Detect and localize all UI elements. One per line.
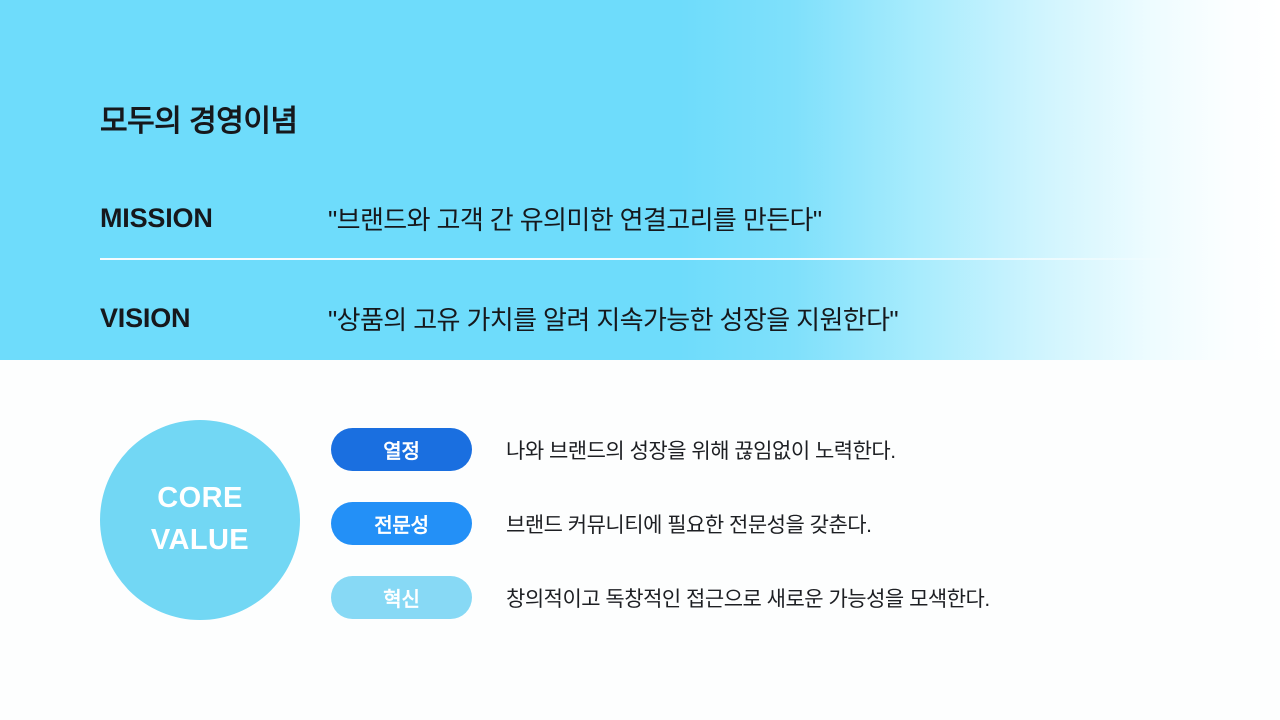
vision-row: VISION "상품의 고유 가치를 알려 지속가능한 성장을 지원한다" [100, 292, 1190, 344]
value-pill-expertise: 전문성 [331, 502, 472, 545]
list-item: 열정 나와 브랜드의 성장을 위해 끊임없이 노력한다. [331, 428, 1191, 471]
value-description-expertise: 브랜드 커뮤니티에 필요한 전문성을 갖춘다. [506, 509, 871, 539]
core-value-circle: CORE VALUE [100, 420, 300, 620]
vision-statement: "상품의 고유 가치를 알려 지속가능한 성장을 지원한다" [328, 300, 898, 337]
value-description-passion: 나와 브랜드의 성장을 위해 끊임없이 노력한다. [506, 435, 896, 465]
mission-row: MISSION "브랜드와 고객 간 유의미한 연결고리를 만든다" [100, 192, 1190, 244]
header-banner: 모두의 경영이념 MISSION "브랜드와 고객 간 유의미한 연결고리를 만… [0, 0, 1280, 360]
core-value-section: CORE VALUE 열정 나와 브랜드의 성장을 위해 끊임없이 노력한다. … [0, 360, 1280, 720]
list-item: 혁신 창의적이고 독창적인 접근으로 새로운 가능성을 모색한다. [331, 576, 1191, 619]
value-pill-passion: 열정 [331, 428, 472, 471]
mission-label: MISSION [100, 203, 328, 234]
value-pill-innovation: 혁신 [331, 576, 472, 619]
core-value-line-1: CORE [157, 478, 242, 520]
page-title: 모두의 경영이념 [100, 96, 298, 140]
mission-statement: "브랜드와 고객 간 유의미한 연결고리를 만든다" [328, 200, 821, 237]
vision-label: VISION [100, 303, 328, 334]
value-description-innovation: 창의적이고 독창적인 접근으로 새로운 가능성을 모색한다. [506, 583, 990, 613]
list-item: 전문성 브랜드 커뮤니티에 필요한 전문성을 갖춘다. [331, 502, 1191, 545]
core-value-list: 열정 나와 브랜드의 성장을 위해 끊임없이 노력한다. 전문성 브랜드 커뮤니… [331, 428, 1191, 619]
section-divider [100, 258, 1180, 260]
core-value-line-2: VALUE [151, 520, 249, 562]
